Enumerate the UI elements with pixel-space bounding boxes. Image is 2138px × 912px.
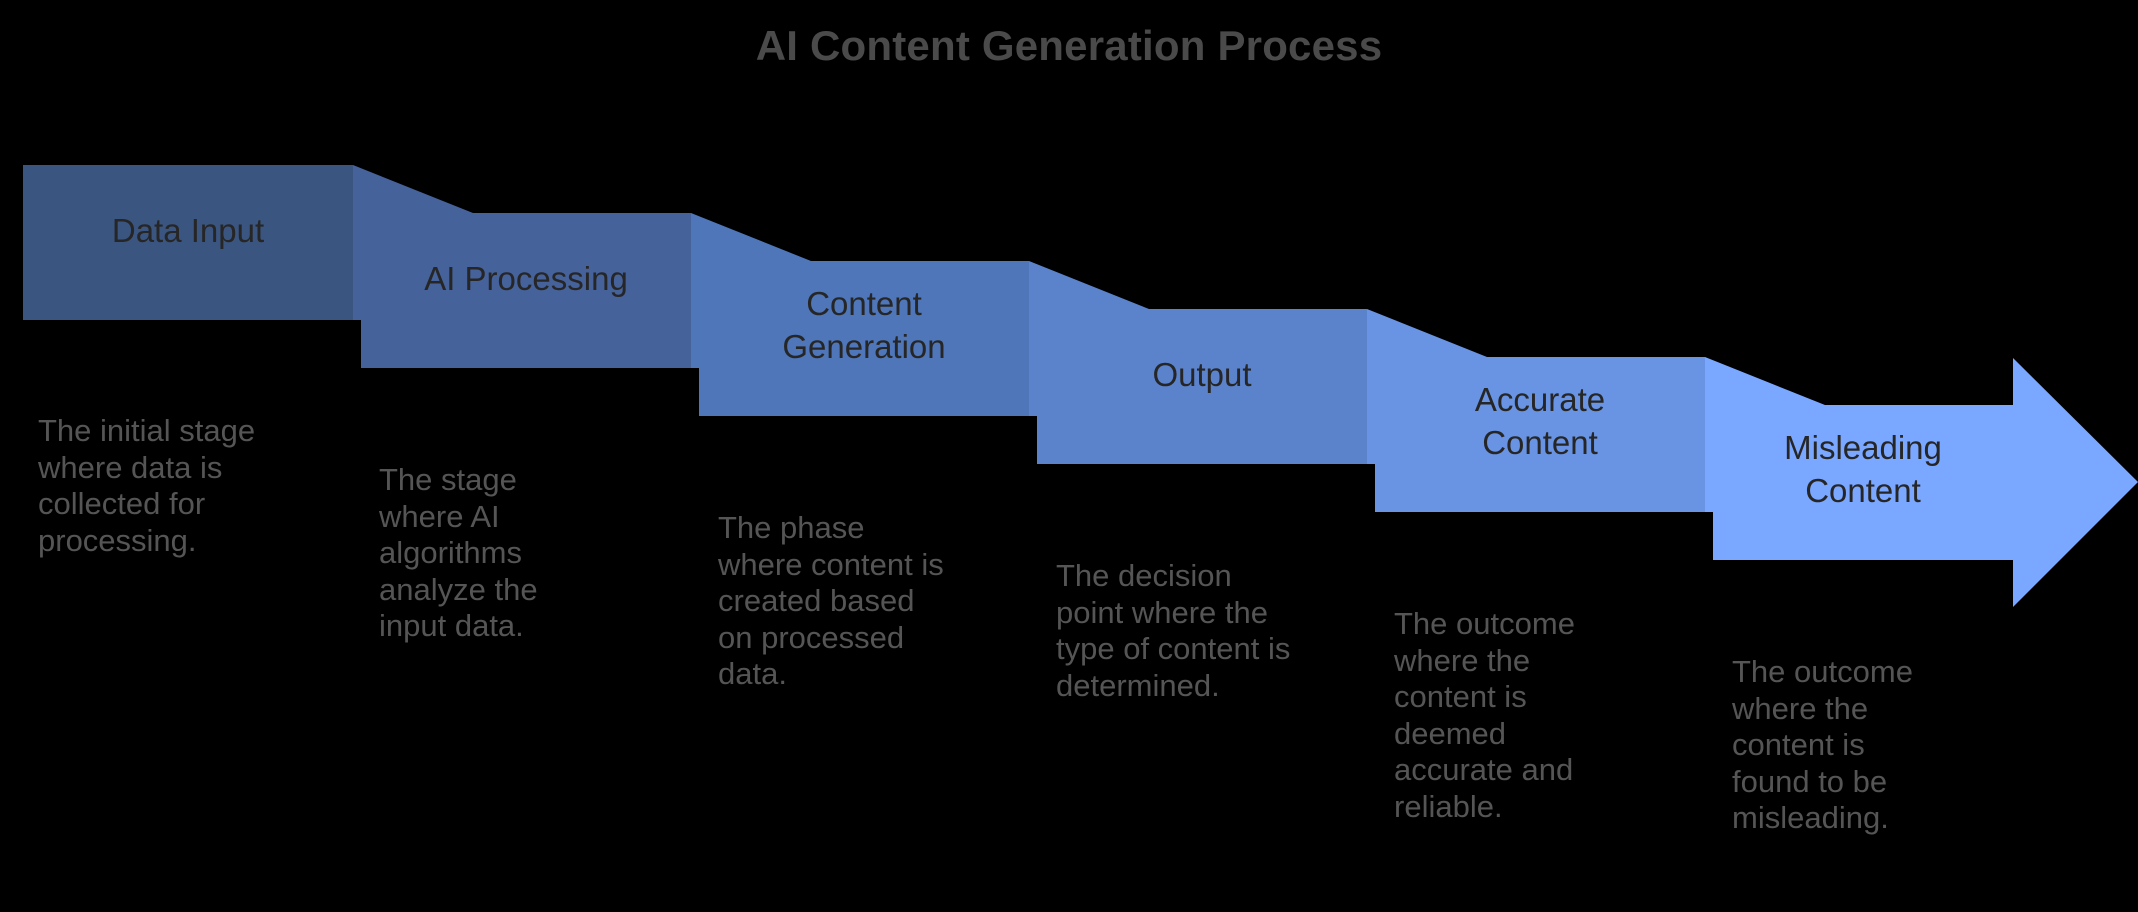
diagram-canvas: AI Content Generation Process Data Input…: [0, 0, 2138, 912]
stage-description-misleading-content: The outcome where the content is found t…: [1732, 654, 1950, 837]
chevron-body: [23, 165, 353, 320]
chevron-body: [1375, 357, 1705, 512]
stage-description-ai-processing: The stage where AI algorithms analyze th…: [379, 462, 594, 645]
chevron-body: [361, 213, 691, 368]
stage-description-content-generation: The phase where content is created based…: [718, 510, 950, 693]
stage-description-data-input: The initial stage where data is collecte…: [38, 413, 268, 559]
page-title: AI Content Generation Process: [0, 22, 2138, 70]
stage-description-output: The decision point where the type of con…: [1056, 558, 1294, 704]
arrow-shape-misleading-content: [1713, 405, 2138, 560]
stage-description-accurate-content: The outcome where the content is deemed …: [1394, 606, 1609, 825]
process-stage-misleading-content[interactable]: Misleading Content: [1713, 405, 2138, 560]
chevron-body: [1037, 309, 1367, 464]
chevron-body: [699, 261, 1029, 416]
